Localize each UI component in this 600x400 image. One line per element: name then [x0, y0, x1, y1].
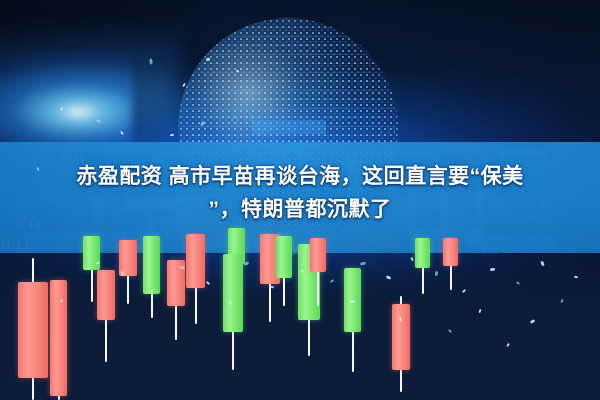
particle — [206, 281, 210, 285]
particle — [180, 266, 185, 270]
particle — [300, 269, 304, 273]
particle — [182, 83, 186, 87]
particle — [448, 329, 452, 333]
particle — [490, 268, 495, 271]
particle — [60, 299, 62, 302]
headline-line-2: ”，特朗普都沉默了 — [14, 193, 586, 226]
particle — [506, 343, 510, 347]
particle — [150, 289, 154, 293]
particle — [462, 289, 466, 293]
particle — [516, 281, 520, 285]
particle — [120, 131, 124, 135]
particle — [434, 271, 438, 277]
particle — [121, 271, 125, 277]
particle — [170, 134, 174, 137]
headline-line-1: 赤盈配资 高市早苗再谈台海，这回直言要“保美 — [76, 165, 523, 188]
particle — [200, 121, 206, 127]
particle — [574, 276, 578, 279]
particle — [270, 285, 274, 288]
particle — [150, 59, 153, 65]
particle — [60, 107, 62, 110]
particle — [330, 279, 334, 283]
particle — [206, 58, 211, 62]
particle — [478, 309, 481, 313]
particle — [360, 262, 366, 266]
particle — [560, 299, 564, 303]
headline-text: 赤盈配资 高市早苗再谈台海，这回直言要“保美 ”，特朗普都沉默了 — [0, 160, 600, 226]
particle — [386, 275, 392, 280]
news-banner-image: 0.111.110.110.211.113.111.011.010.210.11… — [0, 0, 600, 400]
particle — [350, 300, 355, 303]
particle — [228, 301, 232, 305]
particle — [530, 319, 536, 324]
particle — [236, 69, 240, 72]
particle — [410, 257, 413, 261]
particle — [540, 261, 544, 267]
particle — [244, 261, 250, 265]
particle — [96, 261, 100, 265]
particle — [399, 316, 401, 321]
particle — [96, 119, 101, 123]
